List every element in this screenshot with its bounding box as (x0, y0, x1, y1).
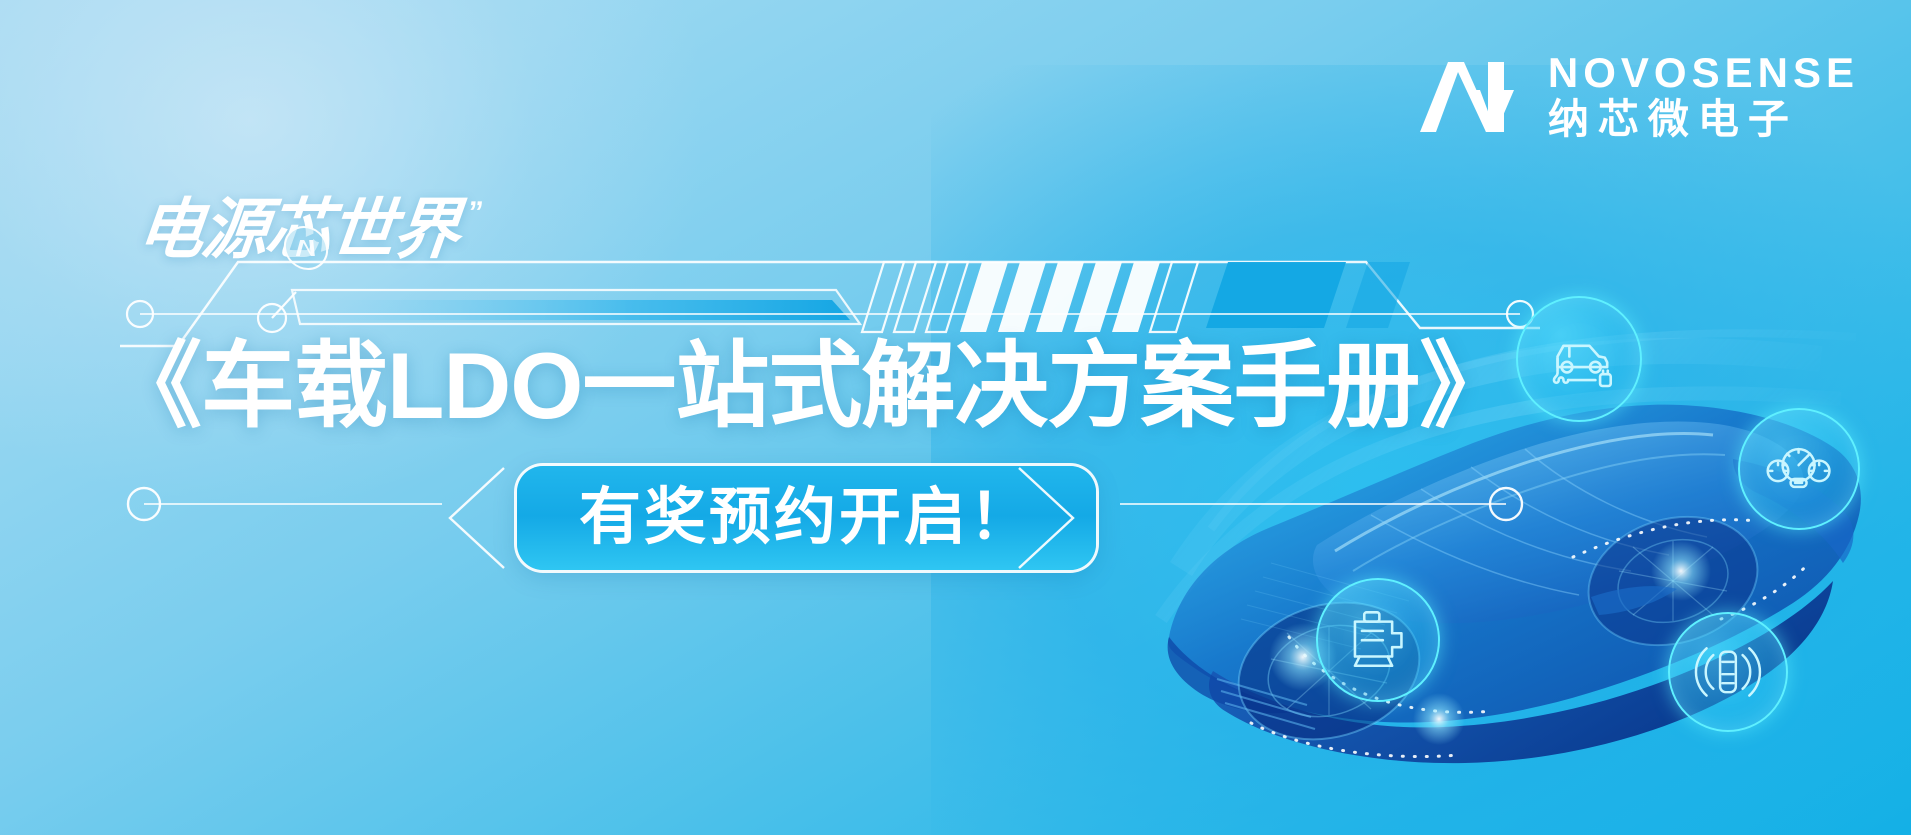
brand-wordmark-group: 电源芯世界 ” (138, 196, 484, 262)
adas-sensing-icon[interactable] (1668, 612, 1788, 732)
motor-ecu-icon[interactable] (1316, 578, 1440, 702)
logo-text-block: NOVOSENSE 纳芯微电子 (1548, 52, 1859, 141)
novosense-n-mark (1418, 60, 1526, 134)
novosense-logo: NOVOSENSE 纳芯微电子 (1418, 52, 1859, 141)
subtitle-text: 有奖预约开启！ (579, 487, 1034, 549)
brand-quote-mark: ” (466, 198, 485, 228)
subtitle-badge[interactable]: 有奖预约开启！ (517, 466, 1096, 570)
logo-chinese: 纳芯微电子 (1548, 98, 1859, 141)
pill-bracket-left (440, 466, 510, 570)
page-title: 《车载LDO一站式解决方案手册》 (108, 336, 1408, 436)
promo-banner: NOVOSENSE 纳芯微电子 电源芯世界 ” (0, 0, 1911, 835)
ev-charging-icon[interactable] (1516, 296, 1642, 422)
logo-english: NOVOSENSE (1548, 52, 1859, 94)
tech-rail-upper (120, 294, 1540, 334)
dashboard-cluster-icon[interactable] (1738, 408, 1860, 530)
